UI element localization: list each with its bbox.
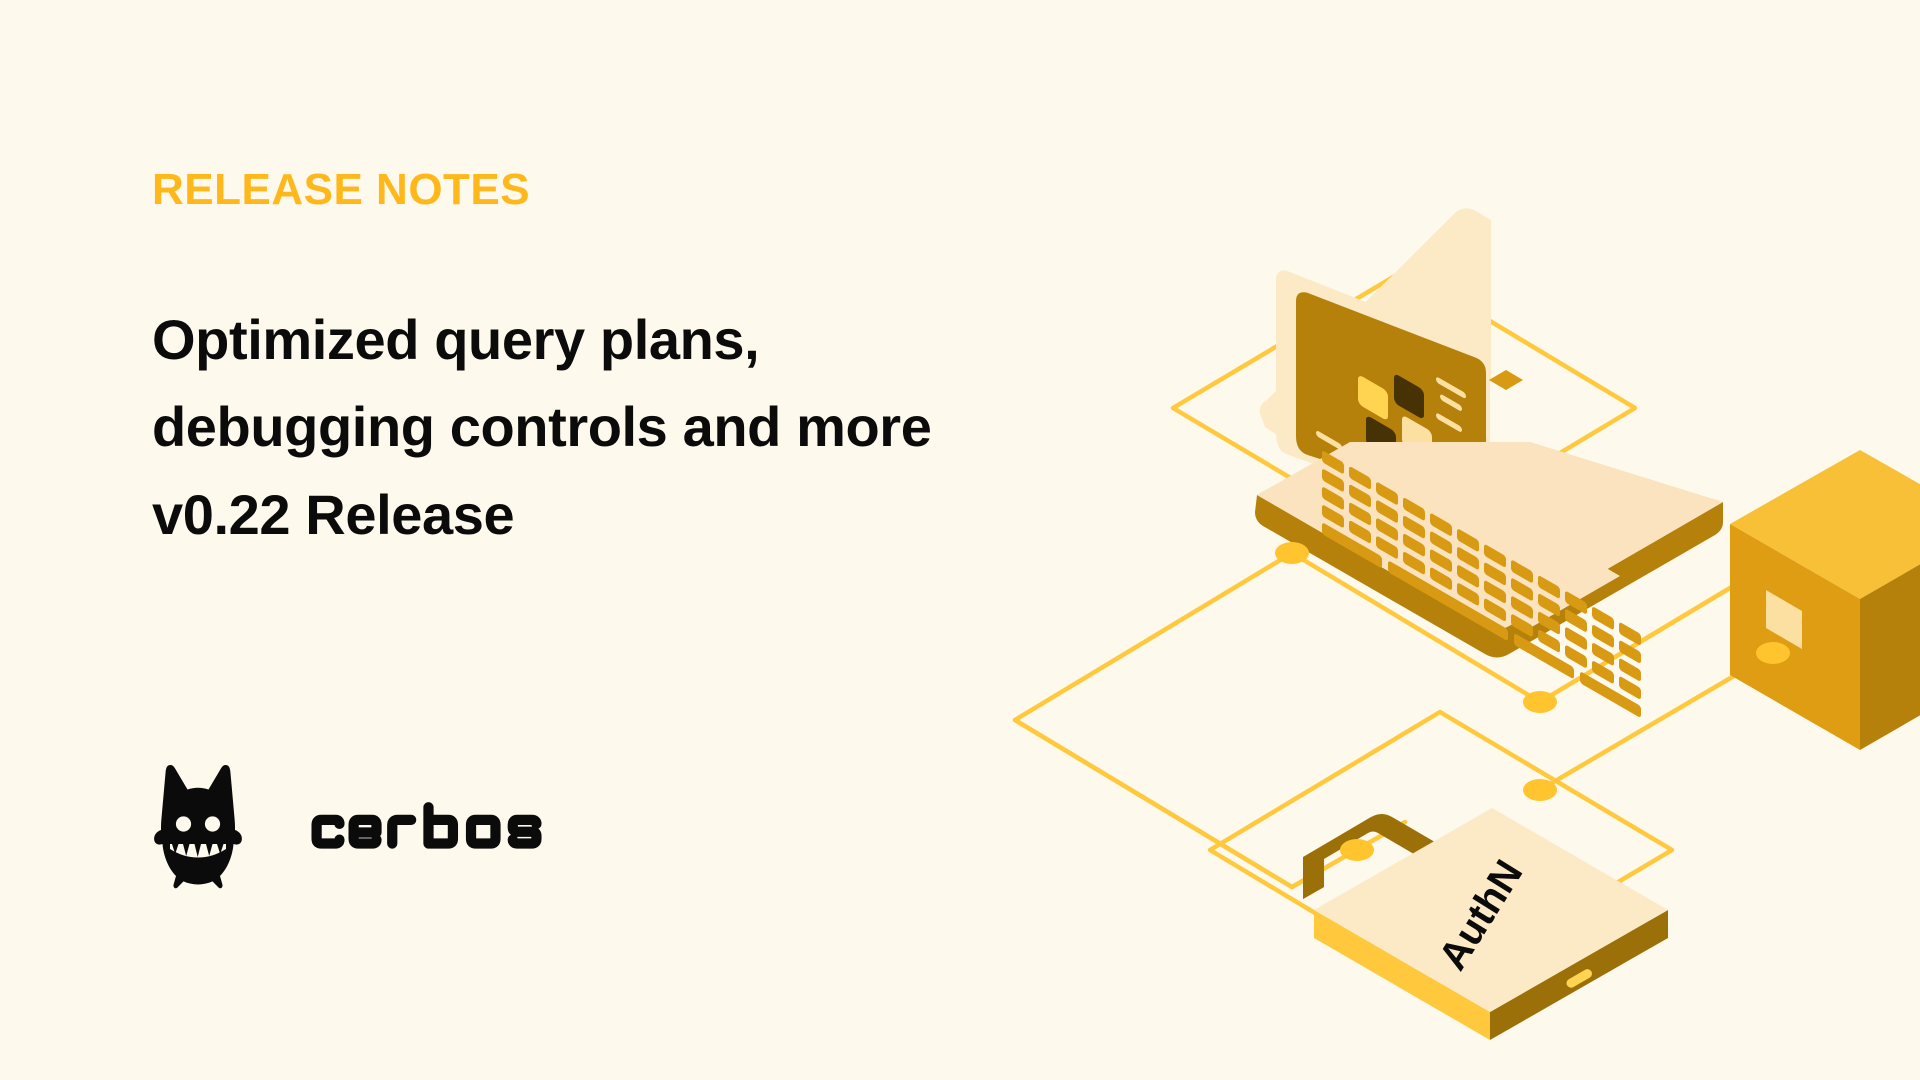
cerbos-mascot-icon xyxy=(150,762,246,892)
text-column: RELEASE NOTES Optimized query plans, deb… xyxy=(152,168,1152,558)
node-padlock-right xyxy=(1523,779,1557,801)
isometric-diagram-svg: AuthN xyxy=(1060,150,1920,1050)
brand-logo-lockup xyxy=(150,762,564,892)
node-laptop-left xyxy=(1275,542,1309,564)
page-title-line-2: debugging controls and more xyxy=(152,383,1152,470)
node-laptop-right xyxy=(1523,691,1557,713)
release-notes-banner: RELEASE NOTES Optimized query plans, deb… xyxy=(0,0,1920,1080)
node-padlock-left xyxy=(1340,839,1374,861)
cerbos-wordmark xyxy=(304,801,564,853)
page-title-line-3: v0.22 Release xyxy=(152,471,1152,558)
page-title-line-1: Optimized query plans, xyxy=(152,296,1152,383)
eyebrow-label: RELEASE NOTES xyxy=(152,168,1152,212)
laptop-object xyxy=(1210,208,1723,718)
cube-object xyxy=(1730,450,1920,750)
isometric-network-illustration: AuthN xyxy=(1060,150,1920,1050)
page-title: Optimized query plans, debugging control… xyxy=(152,296,1152,558)
node-cube-bottom xyxy=(1756,642,1790,664)
